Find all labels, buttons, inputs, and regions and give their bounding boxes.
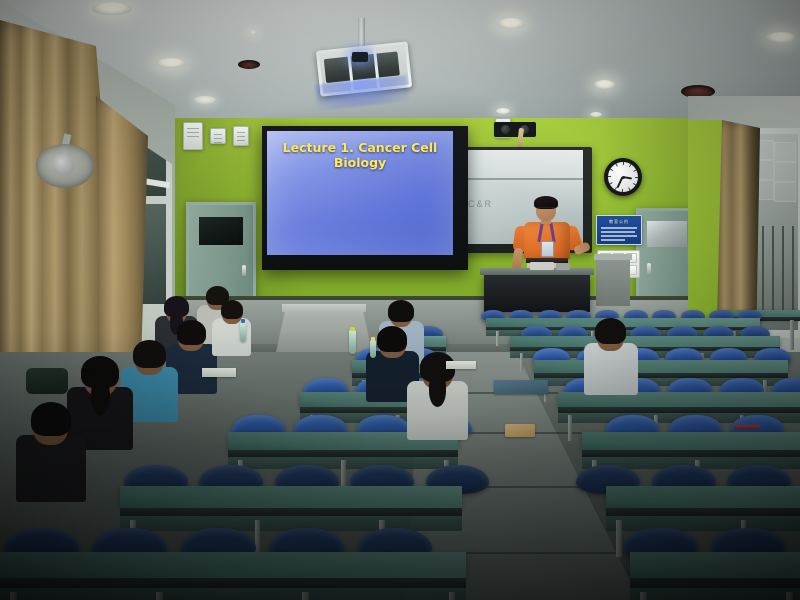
backpack <box>26 368 68 394</box>
water-bottle-blue <box>240 322 246 342</box>
notes-sheet <box>446 361 476 369</box>
notebook-page <box>202 368 236 377</box>
open-book <box>494 380 548 394</box>
snack-bag <box>505 424 535 437</box>
water-bottle-green <box>349 330 356 354</box>
bottle-cap <box>350 327 355 331</box>
bottle-cap <box>371 337 375 341</box>
bottle-cap <box>241 319 245 323</box>
red-pen <box>734 425 760 429</box>
desk-props <box>0 0 800 600</box>
water-bottle-small <box>370 340 376 358</box>
lecture-hall-photo: C&R 教室公约 Lecture 1. Cancer Cell Biolog <box>0 0 800 600</box>
